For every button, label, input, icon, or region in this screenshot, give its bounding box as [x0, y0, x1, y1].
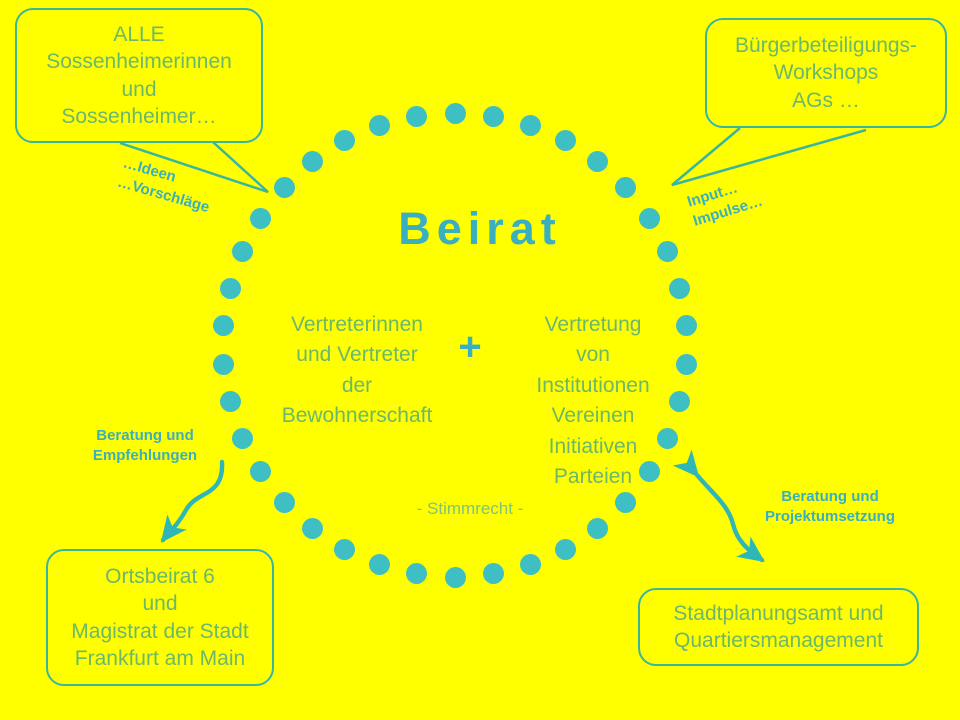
ring-dot [274, 177, 295, 198]
ring-dot [213, 354, 234, 375]
ring-dot [520, 554, 541, 575]
ring-dot [445, 567, 466, 588]
ring-dot [232, 428, 253, 449]
center-column-right: Vertretung von Institutionen Vereinen In… [498, 310, 688, 493]
diagram-canvas: Beirat Vertreterinnen und Vertreter der … [0, 0, 960, 720]
ring-dot [587, 151, 608, 172]
ring-dot [213, 315, 234, 336]
ring-dot [334, 539, 355, 560]
ring-dot [369, 115, 390, 136]
ring-dot [302, 518, 323, 539]
ring-dot [220, 391, 241, 412]
callout-buergerbeteiligung[interactable]: Bürgerbeteiligungs- Workshops AGs … [705, 18, 947, 128]
ring-dot [483, 563, 504, 584]
arrow-beratung-empfehlungen [163, 462, 222, 540]
voting-right-note: - Stimmrecht - [330, 499, 610, 519]
ring-dot [250, 461, 271, 482]
ring-dot [334, 130, 355, 151]
ring-dot [302, 151, 323, 172]
annotation-beratung-empfehlungen: Beratung und Empfehlungen [70, 426, 220, 465]
ring-dot [587, 518, 608, 539]
center-title: Beirat [0, 203, 960, 255]
ring-dot [483, 106, 504, 127]
ring-dot [669, 278, 690, 299]
center-column-left: Vertreterinnen und Vertreter der Bewohne… [262, 310, 452, 432]
ring-dot [220, 278, 241, 299]
annotation-beratung-projektumsetzung: Beratung und Projektumsetzung [740, 487, 920, 526]
callout-stadtplanungsamt[interactable]: Stadtplanungsamt und Quartiersmanagement [638, 588, 919, 666]
ring-dot [406, 563, 427, 584]
callout-stadtplanungsamt-label: Stadtplanungsamt und Quartiersmanagement [673, 600, 883, 655]
ring-dot [615, 492, 636, 513]
ring-dot [555, 539, 576, 560]
callout-buergerbeteiligung-label: Bürgerbeteiligungs- Workshops AGs … [735, 32, 917, 114]
ring-dot [406, 106, 427, 127]
callout-ortsbeirat[interactable]: Ortsbeirat 6 und Magistrat der Stadt Fra… [46, 549, 274, 686]
plus-icon: + [440, 325, 500, 370]
callout-alle-sossenheimer[interactable]: ALLE Sossenheimerinnen und Sossenheimer… [15, 8, 263, 143]
callout-ortsbeirat-label: Ortsbeirat 6 und Magistrat der Stadt Fra… [71, 563, 248, 672]
ring-dot [274, 492, 295, 513]
ring-dot [520, 115, 541, 136]
ring-dot [555, 130, 576, 151]
callout-alle-label: ALLE Sossenheimerinnen und Sossenheimer… [46, 21, 232, 130]
ring-dot [369, 554, 390, 575]
ring-dot [615, 177, 636, 198]
ring-dot [445, 103, 466, 124]
